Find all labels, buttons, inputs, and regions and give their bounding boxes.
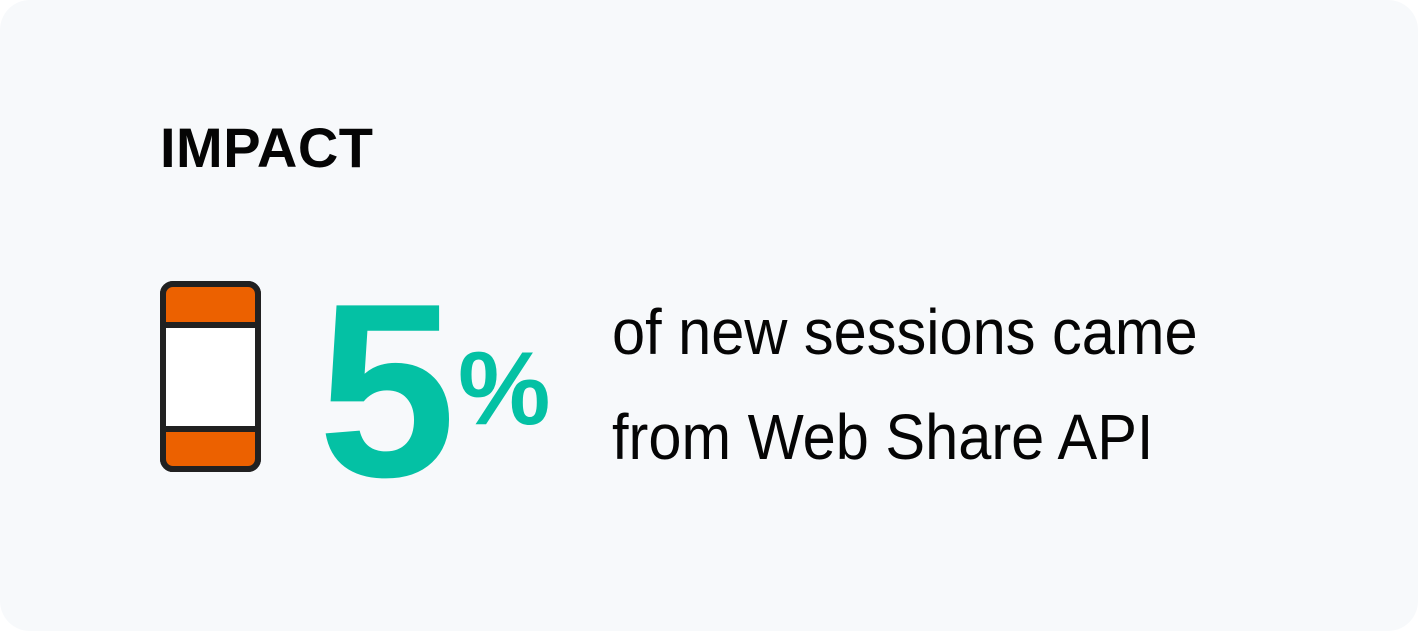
stat-value: 5	[318, 293, 450, 487]
page-title: IMPACT	[160, 116, 374, 180]
stat-description-line-1: of new sessions came	[612, 280, 1282, 385]
mobile-phone-icon	[160, 281, 261, 472]
stat-description-line-2: from Web Share API	[612, 385, 1282, 490]
stat-figure: 5 %	[318, 272, 550, 487]
stat-unit: %	[458, 292, 550, 487]
impact-stat-card: IMPACT 5 % of new sessions came	[0, 0, 1418, 631]
stat-description: of new sessions came from Web Share API	[612, 280, 1332, 490]
stat-row: 5 % of new sessions came from Web Share …	[160, 272, 1340, 487]
